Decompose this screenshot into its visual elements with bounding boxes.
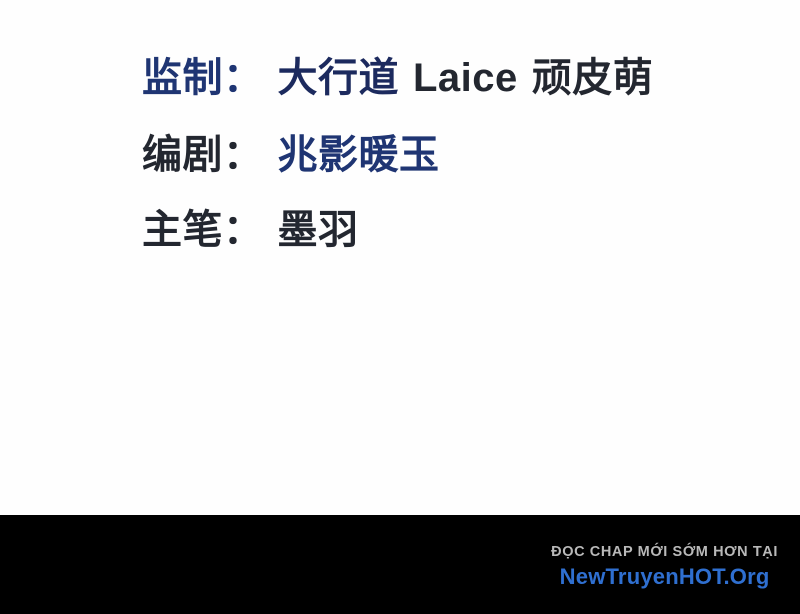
- credit-line-screenwriter: 编剧：兆影暖玉: [142, 131, 440, 179]
- footer-black-bar: ĐỌC CHAP MỚI SỚM HƠN TẠI NewTruyenHOT.Or…: [0, 515, 800, 614]
- watermark-tagline: ĐỌC CHAP MỚI SỚM HƠN TẠI: [551, 543, 778, 561]
- credit-label-producer: 监制：: [142, 54, 264, 102]
- credit-name-producer-2: Laice: [413, 54, 518, 102]
- credit-line-producer: 监制：大行道Laice顽皮萌: [142, 54, 653, 102]
- credit-label-lead-artist: 主笔：: [142, 206, 264, 254]
- credit-name-producer-3: 顽皮萌: [532, 54, 654, 102]
- credit-name-screenwriter-1: 兆影暖玉: [278, 131, 440, 179]
- credit-label-screenwriter: 编剧：: [142, 131, 264, 179]
- credit-line-lead-artist: 主笔：墨羽: [142, 206, 359, 254]
- watermark: ĐỌC CHAP MỚI SỚM HƠN TẠI NewTruyenHOT.Or…: [551, 543, 778, 591]
- credit-name-lead-artist-1: 墨羽: [278, 206, 359, 254]
- comic-page: 监制：大行道Laice顽皮萌 编剧：兆影暖玉 主笔：墨羽 ĐỌC CHAP MỚ…: [0, 0, 800, 614]
- credit-name-producer-1: 大行道: [278, 54, 400, 102]
- watermark-site-link[interactable]: NewTruyenHOT.Org: [551, 563, 778, 591]
- credits-panel: 监制：大行道Laice顽皮萌 编剧：兆影暖玉 主笔：墨羽: [0, 0, 800, 515]
